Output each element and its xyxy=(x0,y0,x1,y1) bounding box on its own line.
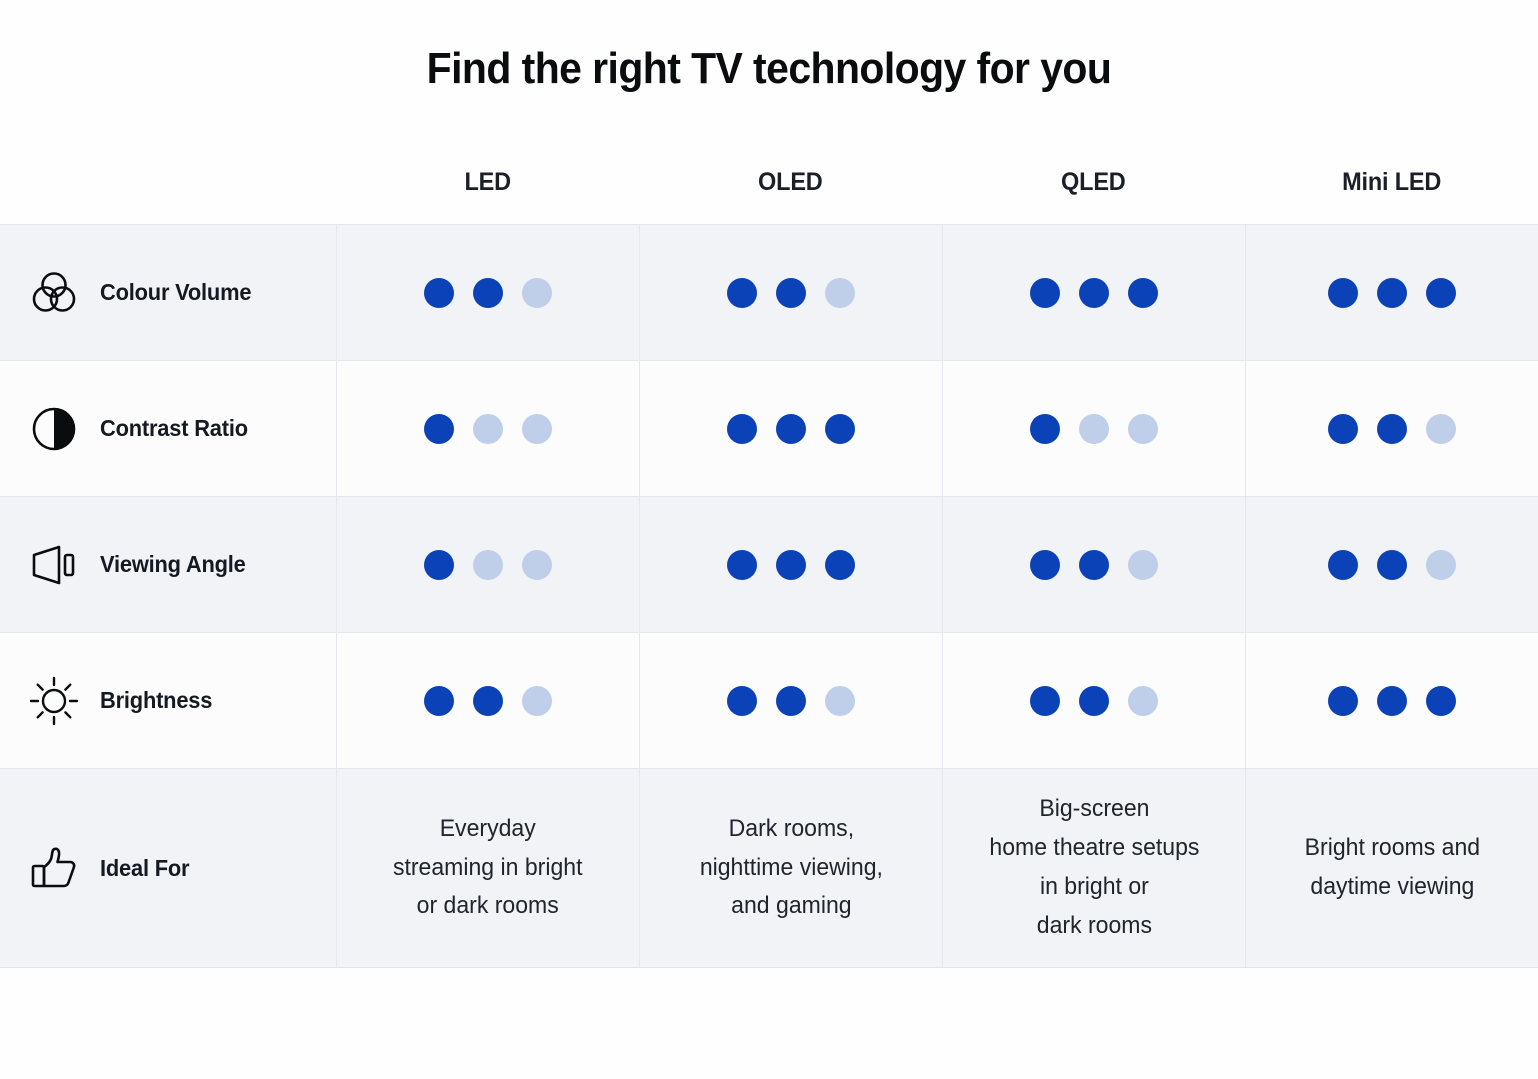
row-label-ideal-for: Ideal For xyxy=(0,769,336,967)
rating-dot xyxy=(1426,686,1456,716)
rating-dot xyxy=(1377,550,1407,580)
row-label-text: Ideal For xyxy=(100,855,189,882)
rating-dot xyxy=(1030,414,1060,444)
rating-dot xyxy=(727,686,757,716)
rating-cell-mini-led xyxy=(1245,497,1538,632)
column-header-mini-led: Mini LED xyxy=(1245,140,1538,224)
rating-dots xyxy=(727,278,855,308)
rating-dot xyxy=(1128,686,1158,716)
rating-dot xyxy=(1079,414,1109,444)
rating-dot xyxy=(727,414,757,444)
rating-dot xyxy=(776,550,806,580)
rating-dot xyxy=(825,414,855,444)
rating-cell-led xyxy=(336,225,639,360)
rating-dot xyxy=(776,414,806,444)
rating-dot xyxy=(1030,550,1060,580)
rating-dot xyxy=(1377,686,1407,716)
rating-dot xyxy=(776,278,806,308)
rating-cell-led xyxy=(336,633,639,768)
rating-cell-qled xyxy=(942,497,1245,632)
rating-dots xyxy=(1328,414,1456,444)
rating-dot xyxy=(473,414,503,444)
row-label-contrast-ratio: Contrast Ratio xyxy=(0,361,336,496)
ideal-for-cell-qled: Big-screen home theatre setups in bright… xyxy=(942,769,1245,967)
table-row: Colour Volume xyxy=(0,224,1538,360)
rating-cell-mini-led xyxy=(1245,361,1538,496)
ideal-for-text: Everyday streaming in bright or dark roo… xyxy=(380,810,596,927)
rating-dot xyxy=(1079,686,1109,716)
rating-dot xyxy=(1426,550,1456,580)
rating-dots xyxy=(727,686,855,716)
viewing-angle-icon xyxy=(26,537,82,593)
contrast-ratio-icon xyxy=(26,401,82,457)
row-label-text: Brightness xyxy=(100,687,212,714)
comparison-table: LED OLED QLED Mini LED xyxy=(0,140,1538,968)
ideal-for-text: Bright rooms and daytime viewing xyxy=(1291,829,1493,907)
page-title: Find the right TV technology for you xyxy=(54,44,1484,94)
rating-dot xyxy=(1377,414,1407,444)
column-header-label: LED xyxy=(464,168,510,197)
rating-dot xyxy=(1030,686,1060,716)
row-label-text: Colour Volume xyxy=(100,279,251,306)
rating-cell-mini-led xyxy=(1245,633,1538,768)
rating-dots xyxy=(424,686,552,716)
rating-dot xyxy=(776,686,806,716)
row-label-text: Viewing Angle xyxy=(100,551,246,578)
rating-dots xyxy=(1328,550,1456,580)
header-spacer-cell xyxy=(0,140,336,224)
rating-dots xyxy=(424,278,552,308)
rating-dot xyxy=(1328,414,1358,444)
rating-dots xyxy=(727,414,855,444)
ideal-for-text: Big-screen home theatre setups in bright… xyxy=(976,790,1213,946)
rating-dot xyxy=(727,550,757,580)
ideal-for-cell-oled: Dark rooms, nighttime viewing, and gamin… xyxy=(639,769,942,967)
column-header-label: Mini LED xyxy=(1342,168,1441,197)
colour-volume-icon xyxy=(26,265,82,321)
rating-cell-oled xyxy=(639,225,942,360)
rating-dots xyxy=(727,550,855,580)
rating-dots xyxy=(1328,686,1456,716)
table-row: Brightness xyxy=(0,632,1538,768)
rating-dot xyxy=(825,550,855,580)
rating-dots xyxy=(1030,278,1158,308)
thumbs-up-icon xyxy=(26,840,82,896)
infographic-page: Find the right TV technology for you LED… xyxy=(0,0,1538,1079)
rating-dot xyxy=(1030,278,1060,308)
rating-dots xyxy=(424,550,552,580)
column-header-oled: OLED xyxy=(639,140,942,224)
rating-cell-oled xyxy=(639,361,942,496)
rating-dot xyxy=(522,278,552,308)
ideal-for-text: Dark rooms, nighttime viewing, and gamin… xyxy=(686,810,896,927)
rating-dot xyxy=(424,278,454,308)
rating-dots xyxy=(1328,278,1456,308)
rating-dot xyxy=(1328,278,1358,308)
rating-dot xyxy=(1426,414,1456,444)
rating-cell-qled xyxy=(942,633,1245,768)
rating-dots xyxy=(1030,550,1158,580)
table-row: Contrast Ratio xyxy=(0,360,1538,496)
row-label-text: Contrast Ratio xyxy=(100,415,248,442)
rating-cell-qled xyxy=(942,361,1245,496)
rating-dot xyxy=(1377,278,1407,308)
rating-dot xyxy=(1079,278,1109,308)
rating-dot xyxy=(1128,550,1158,580)
table-header-row: LED OLED QLED Mini LED xyxy=(0,140,1538,224)
rating-dot xyxy=(1128,278,1158,308)
rating-dot xyxy=(522,686,552,716)
rating-dot xyxy=(1328,550,1358,580)
rating-cell-led xyxy=(336,361,639,496)
rating-dots xyxy=(1030,686,1158,716)
row-label-viewing-angle: Viewing Angle xyxy=(0,497,336,632)
ideal-for-cell-led: Everyday streaming in bright or dark roo… xyxy=(336,769,639,967)
rating-dots xyxy=(424,414,552,444)
column-header-label: OLED xyxy=(758,168,823,197)
rating-dot xyxy=(1426,278,1456,308)
rating-cell-oled xyxy=(639,497,942,632)
rating-dots xyxy=(1030,414,1158,444)
rating-dot xyxy=(424,414,454,444)
column-header-led: LED xyxy=(336,140,639,224)
rating-dot xyxy=(727,278,757,308)
rating-dot xyxy=(473,550,503,580)
rating-dot xyxy=(424,686,454,716)
rating-dot xyxy=(1079,550,1109,580)
row-label-brightness: Brightness xyxy=(0,633,336,768)
column-header-label: QLED xyxy=(1061,168,1126,197)
rating-cell-qled xyxy=(942,225,1245,360)
column-header-qled: QLED xyxy=(942,140,1245,224)
table-row-ideal-for: Ideal For Everyday streaming in bright o… xyxy=(0,768,1538,968)
rating-dot xyxy=(522,414,552,444)
rating-dot xyxy=(1128,414,1158,444)
rating-dot xyxy=(424,550,454,580)
table-row: Viewing Angle xyxy=(0,496,1538,632)
rating-cell-oled xyxy=(639,633,942,768)
rating-cell-led xyxy=(336,497,639,632)
brightness-icon xyxy=(26,673,82,729)
rating-dot xyxy=(473,686,503,716)
ideal-for-cell-mini-led: Bright rooms and daytime viewing xyxy=(1245,769,1538,967)
rating-cell-mini-led xyxy=(1245,225,1538,360)
rating-dot xyxy=(473,278,503,308)
rating-dot xyxy=(825,686,855,716)
row-label-colour-volume: Colour Volume xyxy=(0,225,336,360)
rating-dot xyxy=(522,550,552,580)
rating-dot xyxy=(1328,686,1358,716)
rating-dot xyxy=(825,278,855,308)
